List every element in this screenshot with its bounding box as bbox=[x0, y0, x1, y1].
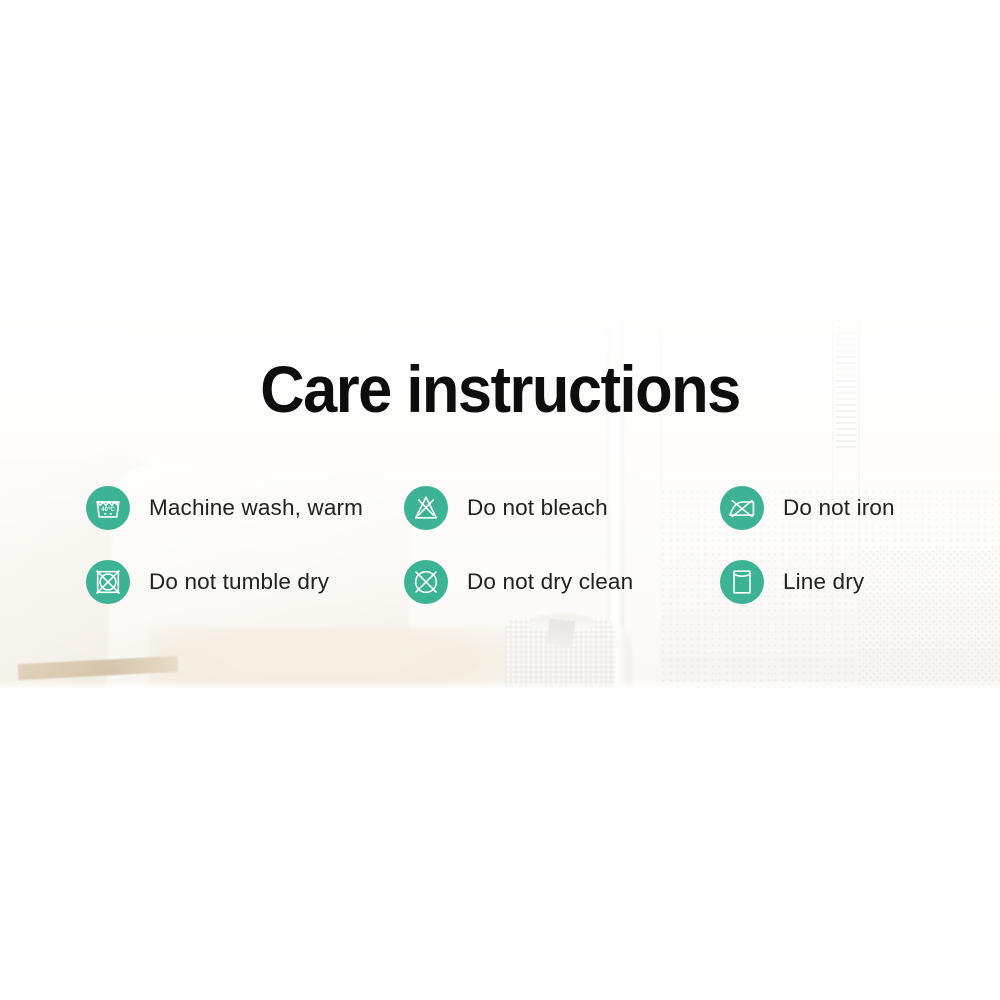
care-row-2: Do not tumble dry Do not dry clean bbox=[86, 560, 966, 604]
page-title: Care instructions bbox=[35, 356, 965, 422]
care-item-label: Line dry bbox=[783, 569, 864, 595]
care-item-do-not-bleach: Do not bleach bbox=[404, 486, 720, 530]
care-item-label: Do not tumble dry bbox=[149, 569, 329, 595]
care-item-line-dry: Line dry bbox=[720, 560, 966, 604]
care-symbol-grid: 40°C Machine wash, warm bbox=[86, 486, 966, 604]
care-item-do-not-dry-clean: Do not dry clean bbox=[404, 560, 720, 604]
care-item-label: Do not bleach bbox=[467, 495, 608, 521]
svg-text:40°C: 40°C bbox=[101, 506, 115, 513]
care-item-label: Do not iron bbox=[783, 495, 895, 521]
line-dry-icon bbox=[720, 560, 764, 604]
care-row-1: 40°C Machine wash, warm bbox=[86, 486, 966, 530]
care-instructions-banner: Care instructions 40°C Machine wash, war… bbox=[0, 0, 1000, 1000]
care-item-machine-wash: 40°C Machine wash, warm bbox=[86, 486, 404, 530]
care-item-do-not-tumble-dry: Do not tumble dry bbox=[86, 560, 404, 604]
do-not-iron-icon bbox=[720, 486, 764, 530]
do-not-tumble-dry-icon bbox=[86, 560, 130, 604]
do-not-dry-clean-icon bbox=[404, 560, 448, 604]
care-item-do-not-iron: Do not iron bbox=[720, 486, 966, 530]
do-not-bleach-icon bbox=[404, 486, 448, 530]
machine-wash-40c-icon: 40°C bbox=[86, 486, 130, 530]
care-item-label: Do not dry clean bbox=[467, 569, 633, 595]
banner-content: Care instructions 40°C Machine wash, war… bbox=[0, 308, 1000, 690]
care-item-label: Machine wash, warm bbox=[149, 495, 363, 521]
